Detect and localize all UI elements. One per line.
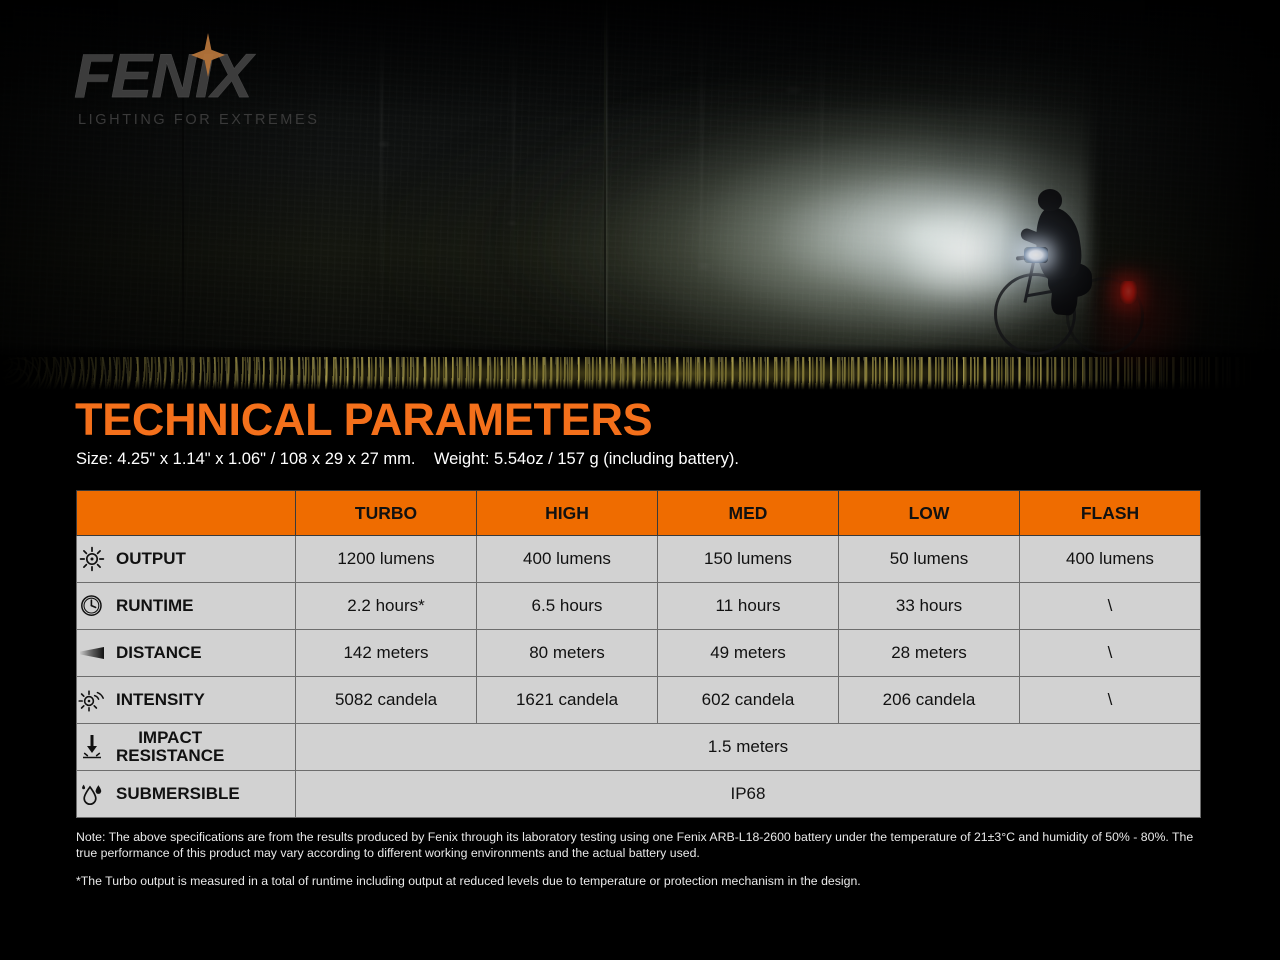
row-label-runtime: RUNTIME (77, 583, 296, 630)
row-label-intensity: INTENSITY (77, 677, 296, 724)
cell-intensity-flash: \ (1020, 677, 1201, 724)
cell-distance-med: 49 meters (658, 630, 839, 677)
table-row: RUNTIME 2.2 hours* 6.5 hours 11 hours 33… (77, 583, 1201, 630)
sun-rays-icon (77, 685, 107, 715)
header-mode-low: LOW (839, 491, 1020, 536)
note-main: Note: The above specifications are from … (76, 829, 1201, 862)
header-corner (77, 491, 296, 536)
impact-label-line1: IMPACT (138, 728, 202, 747)
row-label-text: IMPACT RESISTANCE (116, 729, 224, 765)
cell-runtime-turbo: 2.2 hours* (296, 583, 477, 630)
header-mode-high: HIGH (477, 491, 658, 536)
specs-table-head: TURBO HIGH MED LOW FLASH (77, 491, 1201, 536)
table-row: SUBMERSIBLE IP68 (77, 771, 1201, 818)
cell-output-low: 50 lumens (839, 536, 1020, 583)
row-label-text: SUBMERSIBLE (116, 785, 240, 803)
beam-triangle-icon (77, 638, 107, 668)
cell-intensity-high: 1621 candela (477, 677, 658, 724)
cell-output-med: 150 lumens (658, 536, 839, 583)
cell-distance-flash: \ (1020, 630, 1201, 677)
cell-runtime-high: 6.5 hours (477, 583, 658, 630)
row-label-impact-resistance: IMPACT RESISTANCE (77, 724, 296, 771)
vignette-right (1000, 0, 1280, 392)
cell-intensity-low: 206 candela (839, 677, 1020, 724)
specs-table-body: OUTPUT 1200 lumens 400 lumens 150 lumens… (77, 536, 1201, 818)
water-drop-icon (77, 779, 107, 809)
row-label-submersible: SUBMERSIBLE (77, 771, 296, 818)
row-label-text: DISTANCE (116, 644, 202, 662)
header-row: TURBO HIGH MED LOW FLASH (77, 491, 1201, 536)
row-label-text: OUTPUT (116, 550, 186, 568)
table-row: INTENSITY 5082 candela 1621 candela 602 … (77, 677, 1201, 724)
cell-distance-low: 28 meters (839, 630, 1020, 677)
table-row: OUTPUT 1200 lumens 400 lumens 150 lumens… (77, 536, 1201, 583)
cell-intensity-med: 602 candela (658, 677, 839, 724)
sun-icon (77, 544, 107, 574)
cell-runtime-low: 33 hours (839, 583, 1020, 630)
cell-intensity-turbo: 5082 candela (296, 677, 477, 724)
fenix-logo: FENIX LIGHTING FOR EXTREMES (74, 46, 374, 136)
impact-arrow-icon (77, 732, 107, 762)
specs-table: TURBO HIGH MED LOW FLASH (76, 490, 1201, 818)
hero-photo: FENIX LIGHTING FOR EXTREMES (0, 0, 1280, 392)
size-weight-line: Size: 4.25" x 1.14" x 1.06" / 108 x 29 x… (76, 450, 739, 469)
note-footnote: *The Turbo output is measured in a total… (76, 873, 1201, 889)
header-mode-turbo: TURBO (296, 491, 477, 536)
table-row: DISTANCE 142 meters 80 meters 49 meters … (77, 630, 1201, 677)
header-mode-flash: FLASH (1020, 491, 1201, 536)
impact-label-line2: RESISTANCE (116, 746, 224, 765)
table-row: IMPACT RESISTANCE 1.5 meters (77, 724, 1201, 771)
row-label-text: INTENSITY (116, 691, 205, 709)
cell-output-turbo: 1200 lumens (296, 536, 477, 583)
row-label-output: OUTPUT (77, 536, 296, 583)
cell-output-flash: 400 lumens (1020, 536, 1201, 583)
cell-distance-turbo: 142 meters (296, 630, 477, 677)
brand-tagline: LIGHTING FOR EXTREMES (78, 112, 374, 128)
clock-icon (77, 591, 107, 621)
cell-distance-high: 80 meters (477, 630, 658, 677)
page-title: TECHNICAL PARAMETERS (75, 394, 652, 446)
technical-parameters-section: TECHNICAL PARAMETERS Size: 4.25" x 1.14"… (0, 392, 1280, 960)
row-label-text: RUNTIME (116, 597, 193, 615)
cell-output-high: 400 lumens (477, 536, 658, 583)
header-mode-med: MED (658, 491, 839, 536)
row-label-distance: DISTANCE (77, 630, 296, 677)
cell-runtime-med: 11 hours (658, 583, 839, 630)
cell-submersible-value: IP68 (296, 771, 1201, 818)
cell-impact-resistance-value: 1.5 meters (296, 724, 1201, 771)
notes-block: Note: The above specifications are from … (76, 829, 1201, 889)
cell-runtime-flash: \ (1020, 583, 1201, 630)
